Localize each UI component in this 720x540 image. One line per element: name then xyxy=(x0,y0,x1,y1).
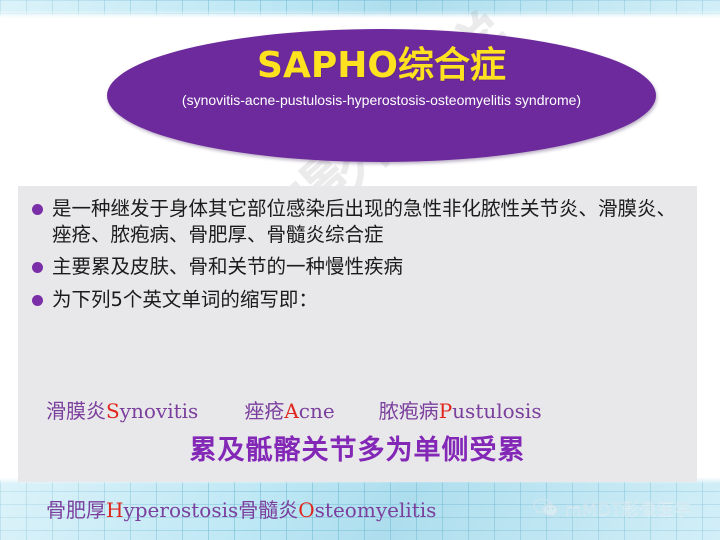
title-ellipse: SAPHO综合症 (synovitis-acne-pustulosis-hype… xyxy=(107,29,656,162)
bullet-item-label: 主要累及皮肤、骨和关节的一种慢性疾病 xyxy=(52,254,403,280)
bullet-dot-icon xyxy=(32,262,43,273)
wechat-icon xyxy=(533,498,559,518)
bullet-dot-icon xyxy=(32,204,43,215)
abbreviation-line-1: 滑膜炎Synovitis痤疮Acne脓疱病Pustulosis xyxy=(46,395,686,428)
abbrev-cn-acne: 痤疮 xyxy=(244,399,284,423)
abbrev-cn-hyperostosis: 骨肥厚 xyxy=(46,498,106,522)
background-grid-band-top xyxy=(0,0,720,18)
abbrev-rest-synovitis: ynovitis xyxy=(120,399,199,423)
abbrev-cn-synovitis: 滑膜炎 xyxy=(46,399,106,423)
abbrev-rest-acne: cne xyxy=(299,399,335,423)
bullet-dot-icon xyxy=(32,295,43,306)
list-item: 主要累及皮肤、骨和关节的一种慢性疾病 xyxy=(32,254,682,280)
abbrev-initial-s: S xyxy=(106,399,120,423)
abbrev-rest-pustulosis: ustulosis xyxy=(452,399,541,423)
abbrev-rest-osteomyelitis: steomyelitis xyxy=(315,498,437,522)
bullet-item-label: 为下列5个英文单词的缩写即： xyxy=(52,287,318,313)
page-title: SAPHO综合症 xyxy=(107,46,656,86)
title-subtitle: (synovitis-acne-pustulosis-hyperostosis-… xyxy=(107,91,656,109)
abbrev-initial-a: A xyxy=(284,399,298,423)
bullet-item-label: 是一种继发于身体其它部位感染后出现的急性非化脓性关节炎、滑膜炎、痤疮、脓疱病、骨… xyxy=(52,196,682,247)
band-sheen-top xyxy=(0,0,720,18)
abbrev-initial-p: P xyxy=(439,399,452,423)
abbrev-rest-hyperostosis: yperostosis xyxy=(123,498,238,522)
abbrev-cn-osteomyelitis: 骨髓炎 xyxy=(238,498,298,522)
abbrev-initial-h: H xyxy=(106,498,123,522)
list-item: 为下列5个英文单词的缩写即： xyxy=(32,287,682,313)
footer-logo: mMDT影像医学 xyxy=(533,495,692,520)
footer-logo-label: mMDT影像医学 xyxy=(565,495,692,520)
list-item: 是一种继发于身体其它部位感染后出现的急性非化脓性关节炎、滑膜炎、痤疮、脓疱病、骨… xyxy=(32,196,682,247)
slide-canvas: mMDT影像医学 SAPHO综合症 (synovitis-acne-pustul… xyxy=(0,0,720,540)
abbrev-initial-o: O xyxy=(298,498,314,522)
bullet-list: 是一种继发于身体其它部位感染后出现的急性非化脓性关节炎、滑膜炎、痤疮、脓疱病、骨… xyxy=(32,196,682,320)
abbrev-cn-pustulosis: 脓疱病 xyxy=(379,399,439,423)
emphasis-statement: 累及骶髂关节多为单侧受累 xyxy=(18,428,697,467)
content-panel: 是一种继发于身体其它部位感染后出现的急性非化脓性关节炎、滑膜炎、痤疮、脓疱病、骨… xyxy=(18,186,697,482)
